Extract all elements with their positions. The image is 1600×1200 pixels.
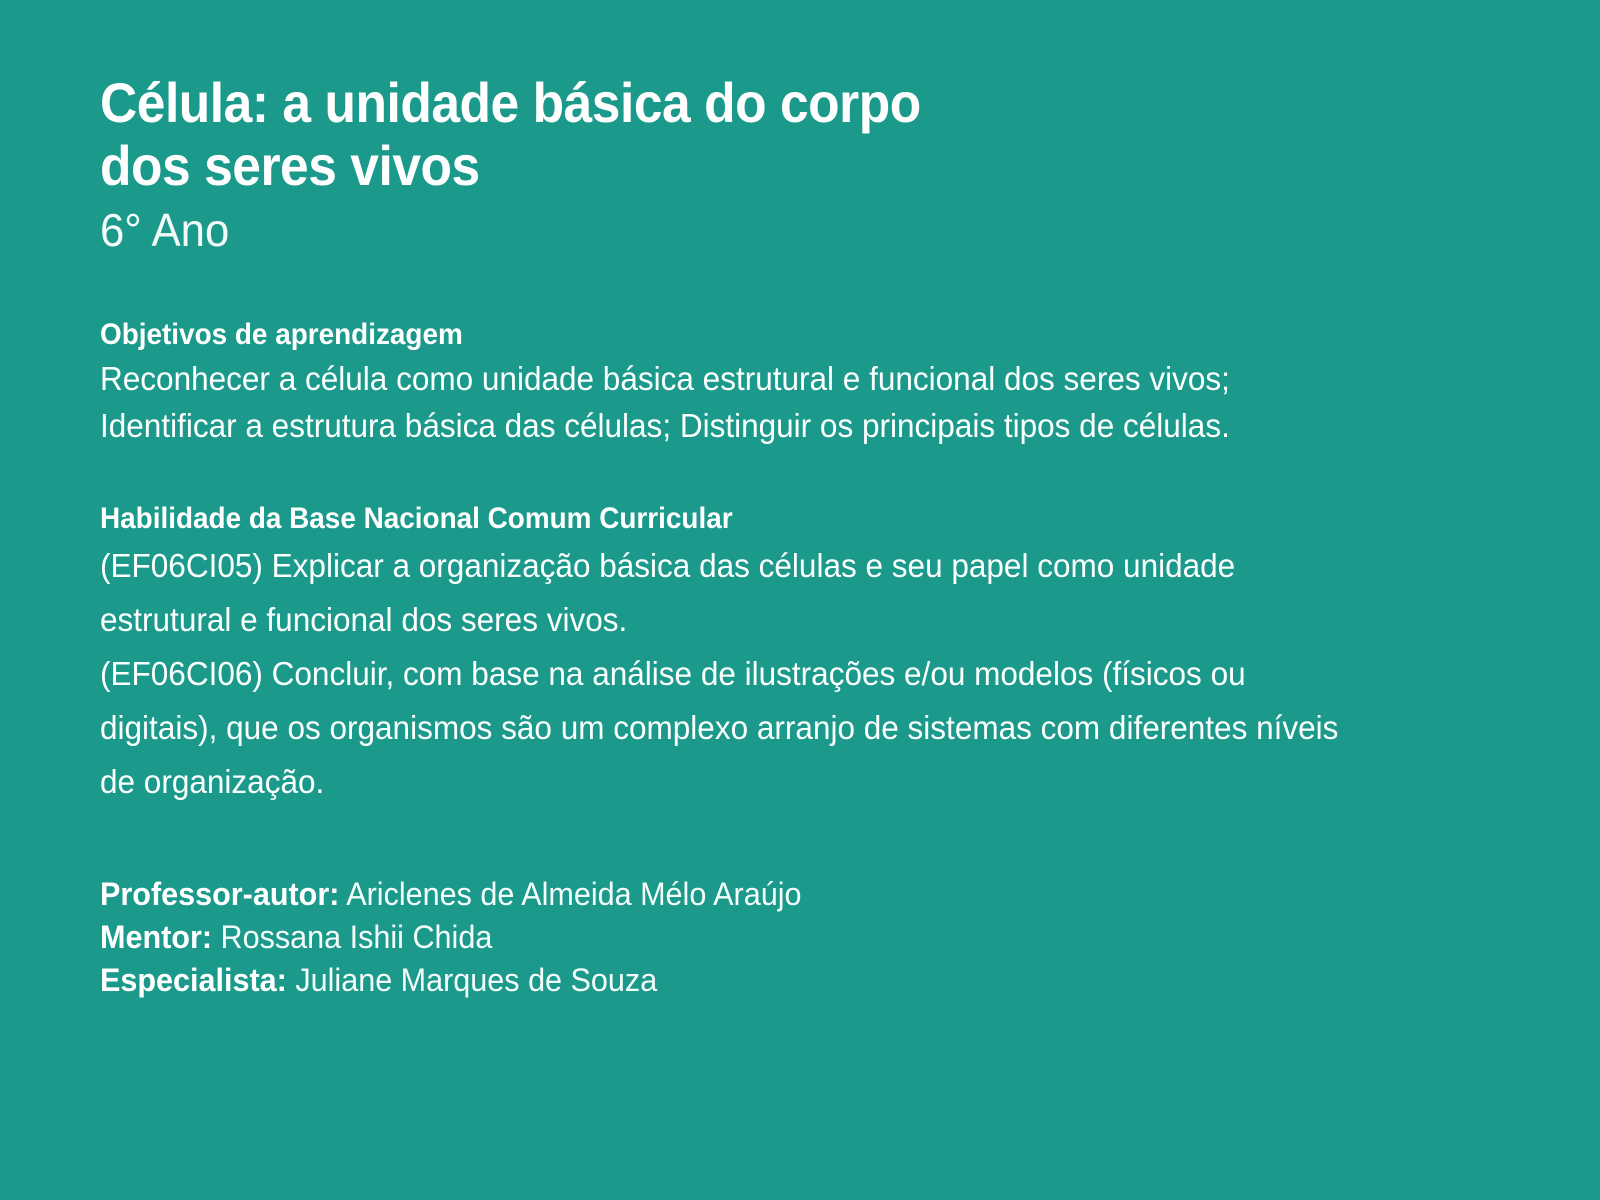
- objectives-heading: Objetivos de aprendizagem: [100, 317, 1309, 353]
- credit-value-especialista: Juliane Marques de Souza: [295, 962, 657, 998]
- bncc-heading: Habilidade da Base Nacional Comum Curric…: [100, 501, 1309, 537]
- slide-root: Célula: a unidade básica do corpo dos se…: [0, 0, 1600, 1200]
- page-title: Célula: a unidade básica do corpo dos se…: [100, 72, 1296, 197]
- credit-especialista: Especialista: Juliane Marques de Souza: [100, 959, 1342, 1002]
- credit-value-professor-autor: Ariclenes de Almeida Mélo Araújo: [346, 876, 801, 912]
- credit-label-professor-autor: Professor-autor:: [100, 876, 339, 912]
- section-objectives: Objetivos de aprendizagem Reconhecer a c…: [100, 317, 1400, 449]
- credit-label-mentor: Mentor:: [100, 919, 212, 955]
- credit-mentor: Mentor: Rossana Ishii Chida: [100, 916, 1342, 959]
- credit-value-mentor: Rossana Ishii Chida: [221, 919, 493, 955]
- bncc-skill-ef06ci05: (EF06CI05) Explicar a organização básica…: [100, 539, 1342, 647]
- bncc-body: (EF06CI05) Explicar a organização básica…: [100, 539, 1342, 809]
- objectives-body: Reconhecer a célula como unidade básica …: [100, 355, 1332, 449]
- credits-block: Professor-autor: Ariclenes de Almeida Mé…: [100, 873, 1342, 1002]
- credit-professor-autor: Professor-autor: Ariclenes de Almeida Mé…: [100, 873, 1342, 916]
- credit-label-especialista: Especialista:: [100, 962, 287, 998]
- section-bncc: Habilidade da Base Nacional Comum Curric…: [100, 501, 1400, 809]
- grade-subtitle: 6° Ano: [100, 203, 1335, 258]
- bncc-skill-ef06ci06: (EF06CI06) Concluir, com base na análise…: [100, 647, 1342, 809]
